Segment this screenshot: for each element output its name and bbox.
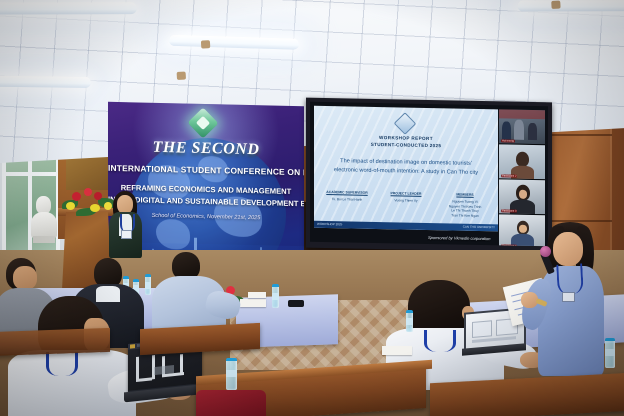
audience-lanyard (424, 330, 456, 352)
bust-statue-base (33, 236, 55, 243)
video-tile[interactable]: Hoi truong (499, 109, 545, 145)
water-bottle (406, 310, 413, 332)
slide-footer-bar: WORKSHOP 2025 CAN THO UNIVERSITY (314, 221, 498, 232)
phone-on-table (288, 300, 304, 307)
banner-diamond-logo (187, 107, 218, 138)
banner-woman-badge (121, 230, 132, 239)
slide-header-line-2: STUDENT-CONDUCTED 2025 (314, 141, 498, 150)
presenter-lanyard (556, 263, 584, 294)
video-conference-panel: Hoi truong Participant 2 Participant 3 (499, 109, 545, 246)
flower-arrangement-podium (60, 186, 116, 218)
credit-supervisor: ACADEMIC SUPERVISOR Ts. Bui Le Thai Hanh (322, 190, 372, 203)
slide-diamond-icon (394, 112, 417, 135)
slide-footer-right: CAN THO UNIVERSITY (463, 225, 495, 230)
slide-title-line-2: electronic word-of-mouth intention: A st… (314, 167, 498, 177)
water-bottle (145, 274, 151, 295)
screen-display-area: WORKSHOP REPORT STUDENT-CONDUCTED 2025 T… (310, 102, 548, 247)
slide-title-line-1: The impact of destination image on domes… (314, 158, 498, 168)
credit-members: MEMBERS Nguyen Tuong Vi Nguyen Thi Kieu … (438, 192, 492, 219)
video-tile[interactable]: Participant 3 (499, 179, 545, 215)
presenter-badge (562, 292, 575, 302)
paper-sheet (248, 292, 266, 298)
conference-photo: THE SECOND INTERNATIONAL STUDENT CONFERE… (0, 0, 624, 416)
audience-face (13, 266, 37, 290)
microphone-head (540, 246, 551, 257)
chair-red (196, 390, 266, 416)
sponsor-text: Sponsored by Vkmedin corporation (428, 235, 490, 241)
projection-screen: WORKSHOP REPORT STUDENT-CONDUCTED 2025 T… (306, 98, 552, 253)
audience-lanyard (46, 352, 78, 376)
banner-ordinal: THE SECOND (108, 138, 304, 160)
bust-statue-body (31, 212, 57, 238)
table-wood-left (0, 328, 110, 356)
water-bottle (605, 338, 615, 368)
audience-shirt-collar (96, 286, 120, 302)
paper-sheet (240, 299, 266, 307)
slide-footer-left: WORKSHOP 2025 (317, 222, 342, 226)
presentation-slide: WORKSHOP REPORT STUDENT-CONDUCTED 2025 T… (314, 106, 498, 232)
video-tile[interactable]: Participant 2 (499, 144, 545, 180)
paper-sheet (382, 346, 412, 355)
water-bottle (226, 358, 237, 390)
video-tile[interactable]: Participant 4 (499, 214, 545, 246)
credit-leader: PROJECT LEADER Vuong Thien Vy (382, 191, 430, 203)
presenter-head (553, 232, 583, 266)
water-bottle (272, 284, 279, 308)
